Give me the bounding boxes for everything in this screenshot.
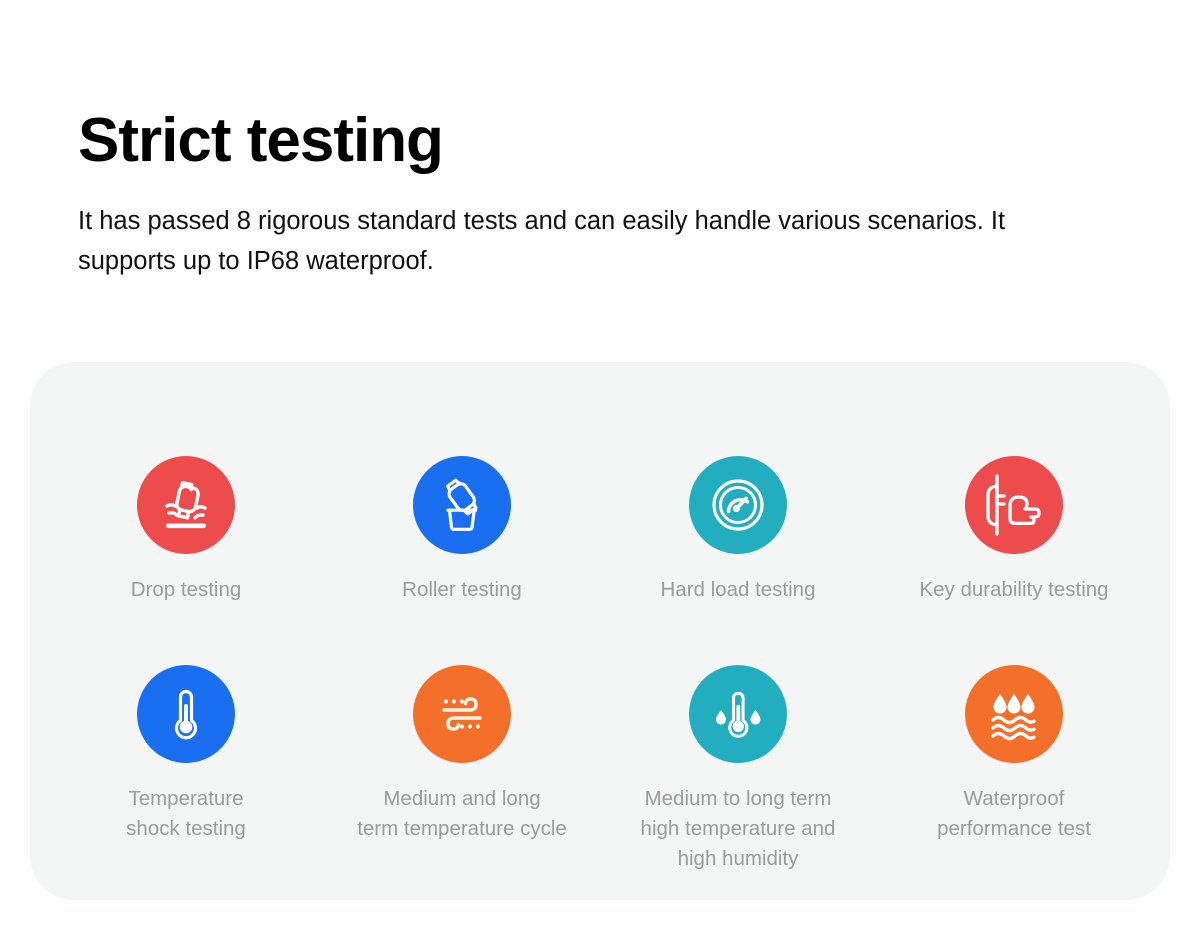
test-item-label: Medium and long term temperature cycle bbox=[357, 784, 567, 844]
test-item-hard-load-testing: Hard load testing bbox=[600, 394, 876, 628]
test-item-waterproof-performance-test: Waterproof performance test bbox=[876, 628, 1152, 874]
page-subtitle: It has passed 8 rigorous standard tests … bbox=[78, 201, 1023, 282]
page-header: Strict testing It has passed 8 rigorous … bbox=[78, 108, 1118, 282]
test-item-label: Waterproof performance test bbox=[937, 784, 1091, 844]
testing-card: Drop testing bbox=[30, 362, 1170, 900]
test-item-label: Medium to long term high temperature and… bbox=[641, 784, 836, 874]
watch-tumbler-drum-icon bbox=[413, 456, 511, 554]
thermometer-icon bbox=[137, 665, 235, 763]
test-item-temperature-cycle: Medium and long term temperature cycle bbox=[324, 628, 600, 874]
test-item-label: Roller testing bbox=[402, 575, 522, 605]
testing-grid: Drop testing bbox=[30, 362, 1170, 900]
test-item-drop-testing: Drop testing bbox=[48, 394, 324, 628]
water-drops-waves-icon bbox=[965, 665, 1063, 763]
thermometer-humidity-icon bbox=[689, 665, 787, 763]
test-item-temperature-shock-testing: Temperature shock testing bbox=[48, 628, 324, 874]
test-item-high-temp-humidity: Medium to long term high temperature and… bbox=[600, 628, 876, 874]
page-root: Strict testing It has passed 8 rigorous … bbox=[0, 0, 1200, 952]
test-item-label: Temperature shock testing bbox=[126, 784, 246, 844]
gauge-speedometer-icon bbox=[689, 456, 787, 554]
test-item-key-durability-testing: Key durability testing bbox=[876, 394, 1152, 628]
test-item-label: Hard load testing bbox=[661, 575, 816, 605]
page-title: Strict testing bbox=[78, 108, 1118, 175]
test-item-roller-testing: Roller testing bbox=[324, 394, 600, 628]
watch-drop-icon bbox=[137, 456, 235, 554]
test-item-label: Drop testing bbox=[131, 575, 242, 605]
test-item-label: Key durability testing bbox=[919, 575, 1108, 605]
wind-airflow-icon bbox=[413, 665, 511, 763]
hand-pressing-button-icon bbox=[965, 456, 1063, 554]
